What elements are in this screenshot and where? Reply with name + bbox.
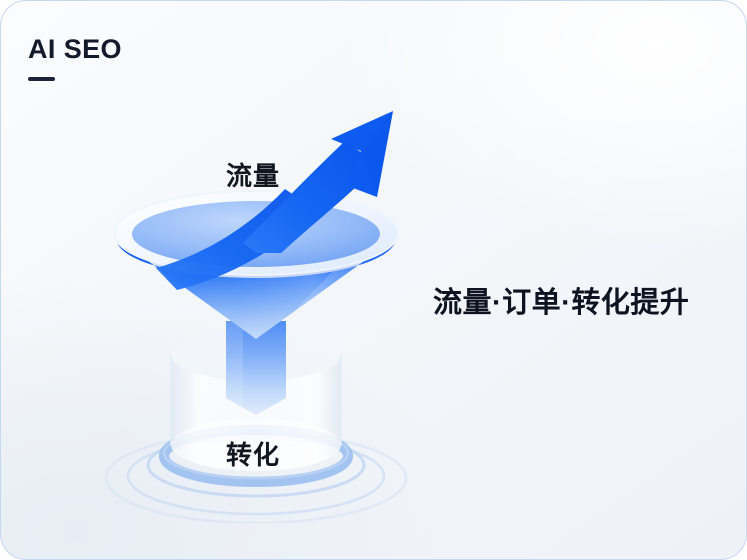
accent-rule-divider [28, 77, 55, 81]
brand-block: AI SEO [28, 36, 328, 81]
label-traffic: 流量 [226, 156, 280, 193]
page-title: AI SEO [28, 36, 328, 63]
label-conversion: 转化 [226, 435, 280, 472]
tagline-text: 流量·订单·转化提升 [433, 279, 689, 321]
slide-canvas: AI SEO [0, 0, 747, 560]
